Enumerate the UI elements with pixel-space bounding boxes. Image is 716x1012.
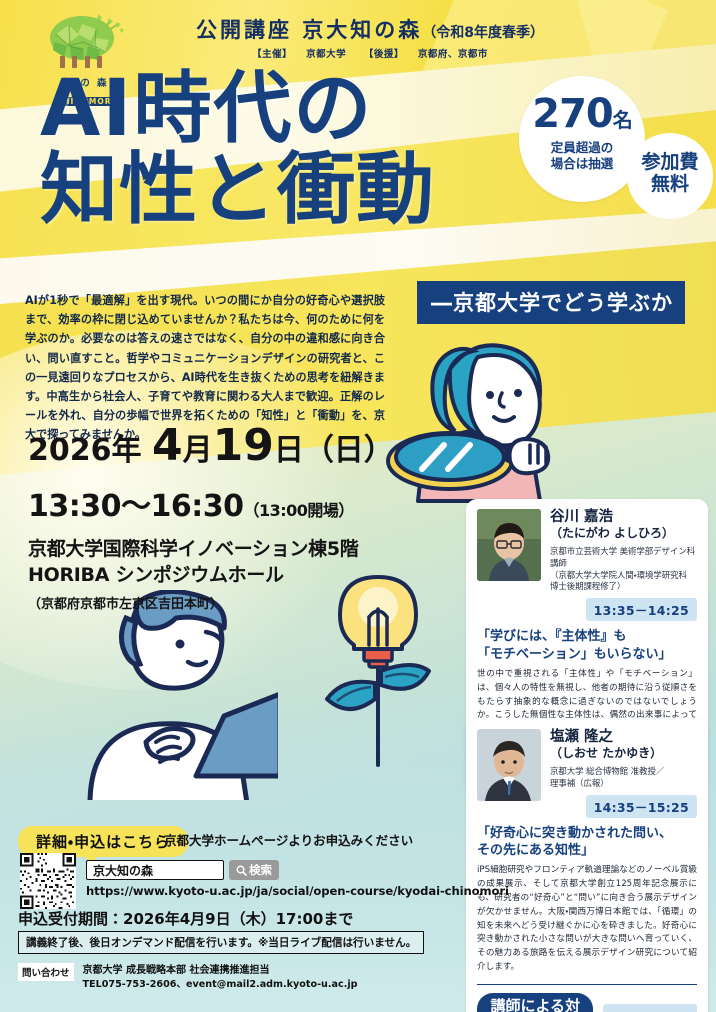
application-period: 申込受付期間：2026年4月9日（木）17:00まで <box>18 908 353 929</box>
talk-title: 「学びには、『主体性』も 「モチベーション」もいらない」 <box>477 628 697 662</box>
speaker-name: 塩瀬 隆之 <box>550 729 697 746</box>
subtitle-bar: ―京都大学でどう学ぶか <box>417 281 685 324</box>
contact-tel: TEL075-753-2606、event@mail2.adm.kyoto-u.… <box>83 978 358 992</box>
contact-label: 問い合わせ <box>18 963 74 981</box>
speaker-kana: （しおせ たかゆき） <box>550 746 697 762</box>
site-search[interactable]: 京大知の森 検索 <box>86 860 279 880</box>
title-line-1: AI時代の <box>40 64 373 154</box>
speaker-name: 谷川 嘉浩 <box>550 509 697 526</box>
apply-note: 京都大学ホームページよりお申込みください <box>164 830 413 849</box>
search-button-label: 検索 <box>249 862 272 878</box>
support-value: 京都府、京都市 <box>418 49 488 60</box>
search-button[interactable]: 検索 <box>229 860 279 880</box>
event-date: 2026年 4月19日（日） <box>28 424 394 468</box>
fee-text: 参加費 無料 <box>627 152 713 196</box>
poster-root: 知 の 森 CHINOMORI 公開講座 京大知の森（令和8年度春季） 【主催】… <box>0 0 716 1012</box>
event-open-note: （13:00開場） <box>244 501 354 520</box>
event-month: 4 <box>152 420 183 471</box>
speaker-info: 谷川 嘉浩 （たにがわ よしひろ） 京都市立芸術大学 美術学部デザイン科 講師 … <box>550 509 697 621</box>
organizer-label: 【主催】 <box>252 49 292 60</box>
panel-talk-pill: 講師による対談 （質疑応答） <box>477 993 593 1012</box>
speaker-affiliation: 京都市立芸術大学 美術学部デザイン科 講師 （京都大学大学院人間・環境学研究科 … <box>550 546 697 594</box>
organizer-value: 京都大学 <box>306 49 346 60</box>
talk-description: iPS細胞研究やフロンティア軌道理論などのノーベル賞級の成果展示、そして京都大学… <box>477 864 697 975</box>
speaker-time-wrap: 14:35－15:25 <box>550 795 697 818</box>
tel-value: 075-753-2606、event@mail2.adm.kyoto-u.ac.… <box>102 979 358 990</box>
search-icon <box>236 865 247 876</box>
speaker-header: 塩瀬 隆之 （しおせ たかゆき） 京都大学 総合博物館 准教授／ 理事補（広報）… <box>477 729 697 818</box>
panel-talk-time-badge: 15:35－16:25 <box>603 1004 697 1012</box>
speaker-photo-shiose <box>477 729 541 801</box>
talk-title: 「好奇心に突き動かされた問い、 その先にある知性」 <box>477 825 697 859</box>
event-venue: 京都大学国際科学イノベーション棟5階 HORIBA シンポジウムホール <box>28 537 394 588</box>
event-month-unit: 月 <box>183 433 213 468</box>
event-day-unit: 日 <box>274 433 304 468</box>
capacity-unit: 名 <box>613 108 632 132</box>
event-address: （京都府京都市左京区吉田本町） <box>28 593 394 612</box>
event-info: 2026年 4月19日（日） 13:30〜16:30（13:00開場） 京都大学… <box>28 424 394 612</box>
speaker-photo-tanigawa <box>477 509 541 581</box>
search-input[interactable]: 京大知の森 <box>86 860 224 880</box>
capacity-number-row: 270名 <box>519 94 645 134</box>
title-line-2: 知性と衝動 <box>40 153 560 228</box>
ondemand-notice: 講義終了後、後日オンデマンド配信を行います。※当日ライブ配信は行いません。 <box>18 931 424 954</box>
fee-line-1: 参加費 <box>627 152 713 174</box>
course-title-main: 公開講座 京大知の森 <box>196 18 422 42</box>
event-year: 2026年 <box>28 433 142 468</box>
speaker-affiliation: 京都大学 総合博物館 准教授／ 理事補（広報） <box>550 766 697 790</box>
course-term: （令和8年度春季） <box>422 25 544 41</box>
contact-org: 京都大学 成長戦略本部 社会連携推進担当 <box>83 963 358 978</box>
fee-badge: 参加費 無料 <box>627 133 713 219</box>
speaker-kana: （たにがわ よしひろ） <box>550 526 697 542</box>
event-day: 19 <box>213 420 274 471</box>
apply-url[interactable]: https://www.kyoto-u.ac.jp/ja/social/open… <box>86 884 509 898</box>
speaker-header: 谷川 嘉浩 （たにがわ よしひろ） 京都市立芸術大学 美術学部デザイン科 講師 … <box>477 509 697 621</box>
speaker-time-badge: 14:35－15:25 <box>586 795 697 818</box>
venue-line-1: 京都大学国際科学イノベーション棟5階 <box>28 537 394 563</box>
capacity-number: 270 <box>532 91 613 137</box>
venue-line-2: HORIBA シンポジウムホール <box>28 563 394 589</box>
speaker-card-2: 塩瀬 隆之 （しおせ たかゆき） 京都大学 総合博物館 准教授／ 理事補（広報）… <box>466 719 708 1012</box>
lead-paragraph: AIが1秒で「最適解」を出す現代。いつの間にか自分の好奇心や選択肢まで、効率の枠… <box>25 291 385 445</box>
contact-details: 京都大学 成長戦略本部 社会連携推進担当 TEL075-753-2606、eve… <box>83 963 358 992</box>
speaker-time-wrap: 13:35－14:25 <box>550 598 697 621</box>
event-weekday: （日） <box>304 433 394 468</box>
panel-talk-title: 講師による対談 <box>490 998 580 1012</box>
panel-talk-time-wrap: 15:35－16:25 <box>603 1004 697 1012</box>
organizer-line: 【主催】京都大学 【後援】京都府、京都市 <box>160 46 580 60</box>
panel-talk-row: 講師による対談 （質疑応答） 15:35－16:25 <box>477 993 697 1012</box>
contact-section: 問い合わせ 京都大学 成長戦略本部 社会連携推進担当 TEL075-753-26… <box>18 963 358 992</box>
man-with-laptop-illustration <box>28 590 278 800</box>
page-title: AI時代の 知性と衝動 <box>40 72 560 228</box>
qr-code[interactable] <box>20 853 76 909</box>
tel-prefix: TEL <box>83 979 102 990</box>
event-time-range: 13:30〜16:30 <box>28 489 244 524</box>
woman-with-magnifier-illustration <box>378 333 568 508</box>
speaker-info: 塩瀬 隆之 （しおせ たかゆき） 京都大学 総合博物館 准教授／ 理事補（広報）… <box>550 729 697 818</box>
speaker-time-badge: 13:35－14:25 <box>586 598 697 621</box>
event-time: 13:30〜16:30（13:00開場） <box>28 481 394 525</box>
course-title: 公開講座 京大知の森（令和8年度春季） <box>160 14 580 44</box>
panel-divider <box>477 984 697 985</box>
fee-line-2: 無料 <box>627 174 713 196</box>
support-label: 【後援】 <box>364 49 404 60</box>
